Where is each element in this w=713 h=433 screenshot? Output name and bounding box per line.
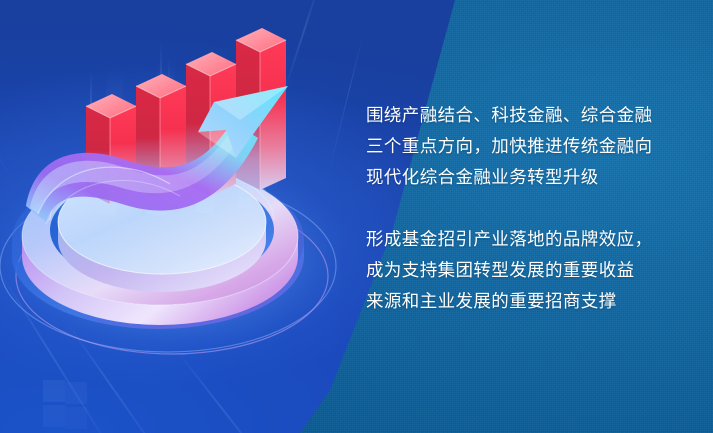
paragraph-2-line-3: 来源和主业发展的重要招商支撑 [366,286,686,317]
paragraph-2-line-2: 成为支持集团转型发展的重要收益 [366,255,686,286]
growth-chart-illustration [0,8,340,368]
paragraph-2-line-1: 形成基金招引产业落地的品牌效应， [366,224,686,255]
decor-square [65,407,87,429]
decor-square [43,405,65,427]
decor-square [43,380,65,402]
slide-canvas: 围绕产融结合、科技金融、综合金融 三个重点方向，加快推进传统金融向 现代化综合金… [0,0,713,433]
paragraph-1-line-1: 围绕产融结合、科技金融、综合金融 [366,100,686,131]
growth-chart-svg [0,8,340,368]
paragraph-1-line-3: 现代化综合金融业务转型升级 [366,162,686,193]
paragraph-1-line-2: 三个重点方向，加快推进传统金融向 [366,131,686,162]
paragraph-2: 形成基金招引产业落地的品牌效应， 成为支持集团转型发展的重要收益 来源和主业发展… [366,224,686,317]
paragraph-1: 围绕产融结合、科技金融、综合金融 三个重点方向，加快推进传统金融向 现代化综合金… [366,100,686,193]
decor-square [65,382,87,404]
text-content: 围绕产融结合、科技金融、综合金融 三个重点方向，加快推进传统金融向 现代化综合金… [366,100,686,317]
